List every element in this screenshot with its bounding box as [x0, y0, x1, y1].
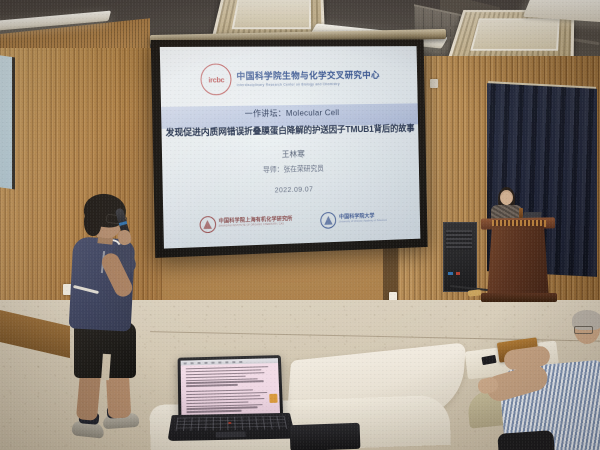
document-highlight — [269, 394, 277, 403]
rack-led-red-icon — [456, 272, 460, 275]
ircbc-logo-icon: ircbc — [201, 64, 233, 96]
podium-front-panel — [492, 220, 546, 227]
rack-vent — [446, 230, 472, 250]
document-toolbar — [181, 358, 278, 365]
conference-room-photo: ircbc 中国科学院生物与化学交叉研究中心 Interdisciplinary… — [0, 0, 600, 450]
laptop-screen[interactable] — [181, 358, 280, 416]
footer-logo-ucas: 中国科学院大学 University of Chinese Academy of… — [320, 210, 387, 229]
trackpoint-icon[interactable] — [228, 422, 231, 424]
footer-logo-sioc: 中国科学院上海有机化学研究所 SHANGHAI INSTITUTE OF ORG… — [199, 213, 293, 233]
ucas-name-en: University of Chinese Academy of Science… — [339, 220, 387, 224]
slide-advisor: 导师：张在荣研究员 — [263, 163, 324, 174]
podium-speaker-face — [501, 192, 512, 205]
ac-grille — [232, 0, 311, 29]
presenter-hair-side — [84, 210, 101, 236]
ac-grille — [470, 19, 560, 51]
window-left — [0, 55, 15, 190]
ircbc-logo-text: 中国科学院生物与化学交叉研究中心 Interdisciplinary Resea… — [236, 71, 380, 88]
laptop-on-table — [178, 355, 284, 419]
slide-footer-logos: 中国科学院上海有机化学研究所 SHANGHAI INSTITUTE OF ORG… — [163, 209, 420, 235]
org-name-cn: 中国科学院生物与化学交叉研究中心 — [236, 71, 380, 83]
document-text-lines — [186, 366, 273, 414]
trackpad[interactable] — [216, 431, 246, 437]
black-equipment-box — [290, 423, 361, 450]
slide-header: ircbc 中国科学院生物与化学交叉研究中心 Interdisciplinary… — [160, 46, 418, 107]
projection-screen: ircbc 中国科学院生物与化学交叉研究中心 Interdisciplinary… — [151, 39, 428, 258]
presenter-leg-left — [76, 371, 101, 421]
ucas-text: 中国科学院大学 University of Chinese Academy of… — [339, 214, 387, 224]
presentation-slide: ircbc 中国科学院生物与化学交叉研究中心 Interdisciplinary… — [160, 46, 421, 248]
keyboard-keys[interactable] — [175, 416, 287, 431]
wall-outlet[interactable] — [430, 79, 438, 88]
seated-attendee — [470, 312, 600, 450]
sioc-seal-icon — [199, 216, 216, 233]
sioc-text: 中国科学院上海有机化学研究所 SHANGHAI INSTITUTE OF ORG… — [219, 217, 293, 228]
screen-surface: ircbc 中国科学院生物与化学交叉研究中心 Interdisciplinary… — [160, 46, 421, 248]
glasses-icon — [574, 326, 593, 334]
laptop-keyboard-deck — [168, 413, 296, 441]
org-name-en: Interdisciplinary Research Center on Bio… — [237, 82, 380, 87]
podium-base — [481, 293, 557, 302]
sioc-name-en: SHANGHAI INSTITUTE OF ORGANIC CHEMISTRY,… — [219, 223, 293, 228]
slide-subtitle: 一作讲坛：Molecular Cell — [245, 106, 340, 119]
attendee-chair-back — [497, 430, 554, 450]
slide-title: 发现促进内质网错误折叠膜蛋白降解的护送因子TMUB1背后的故事 — [165, 120, 414, 138]
ucas-seal-icon — [320, 212, 336, 229]
slide-speaker-name: 王林寒 — [282, 147, 305, 159]
slide-date: 2022.09.07 — [275, 184, 314, 194]
rack-led-blue-icon — [448, 272, 453, 275]
podium — [487, 226, 549, 298]
